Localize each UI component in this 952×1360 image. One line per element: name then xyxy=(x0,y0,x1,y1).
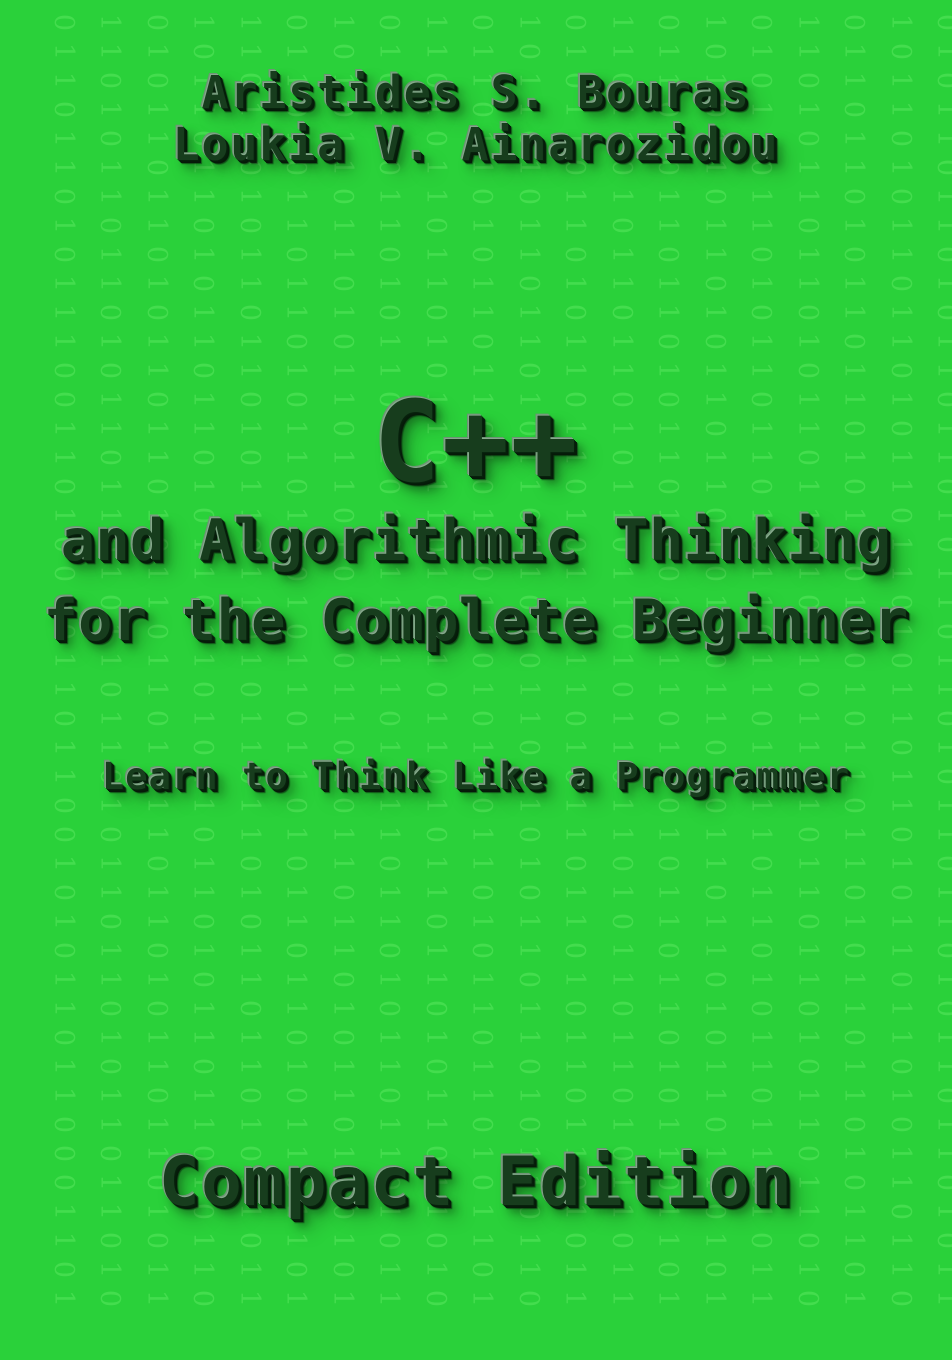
title-language: C++ xyxy=(0,387,952,499)
edition-label: Compact Edition xyxy=(0,1143,952,1222)
cover-text-layer: Aristides S. Bouras Loukia V. Ainarozido… xyxy=(0,0,952,1360)
author-name-secondary: Loukia V. Ainarozidou xyxy=(0,118,952,171)
author-name-primary: Aristides S. Bouras xyxy=(0,66,952,119)
book-cover: 0110110101110011010010110110010101101100… xyxy=(0,0,952,1360)
title-subtitle-line-1: and Algorithmic Thinking xyxy=(0,508,952,574)
cover-tagline: Learn to Think Like a Programmer xyxy=(0,755,952,798)
title-subtitle-line-2: for the Complete Beginner xyxy=(0,588,952,654)
